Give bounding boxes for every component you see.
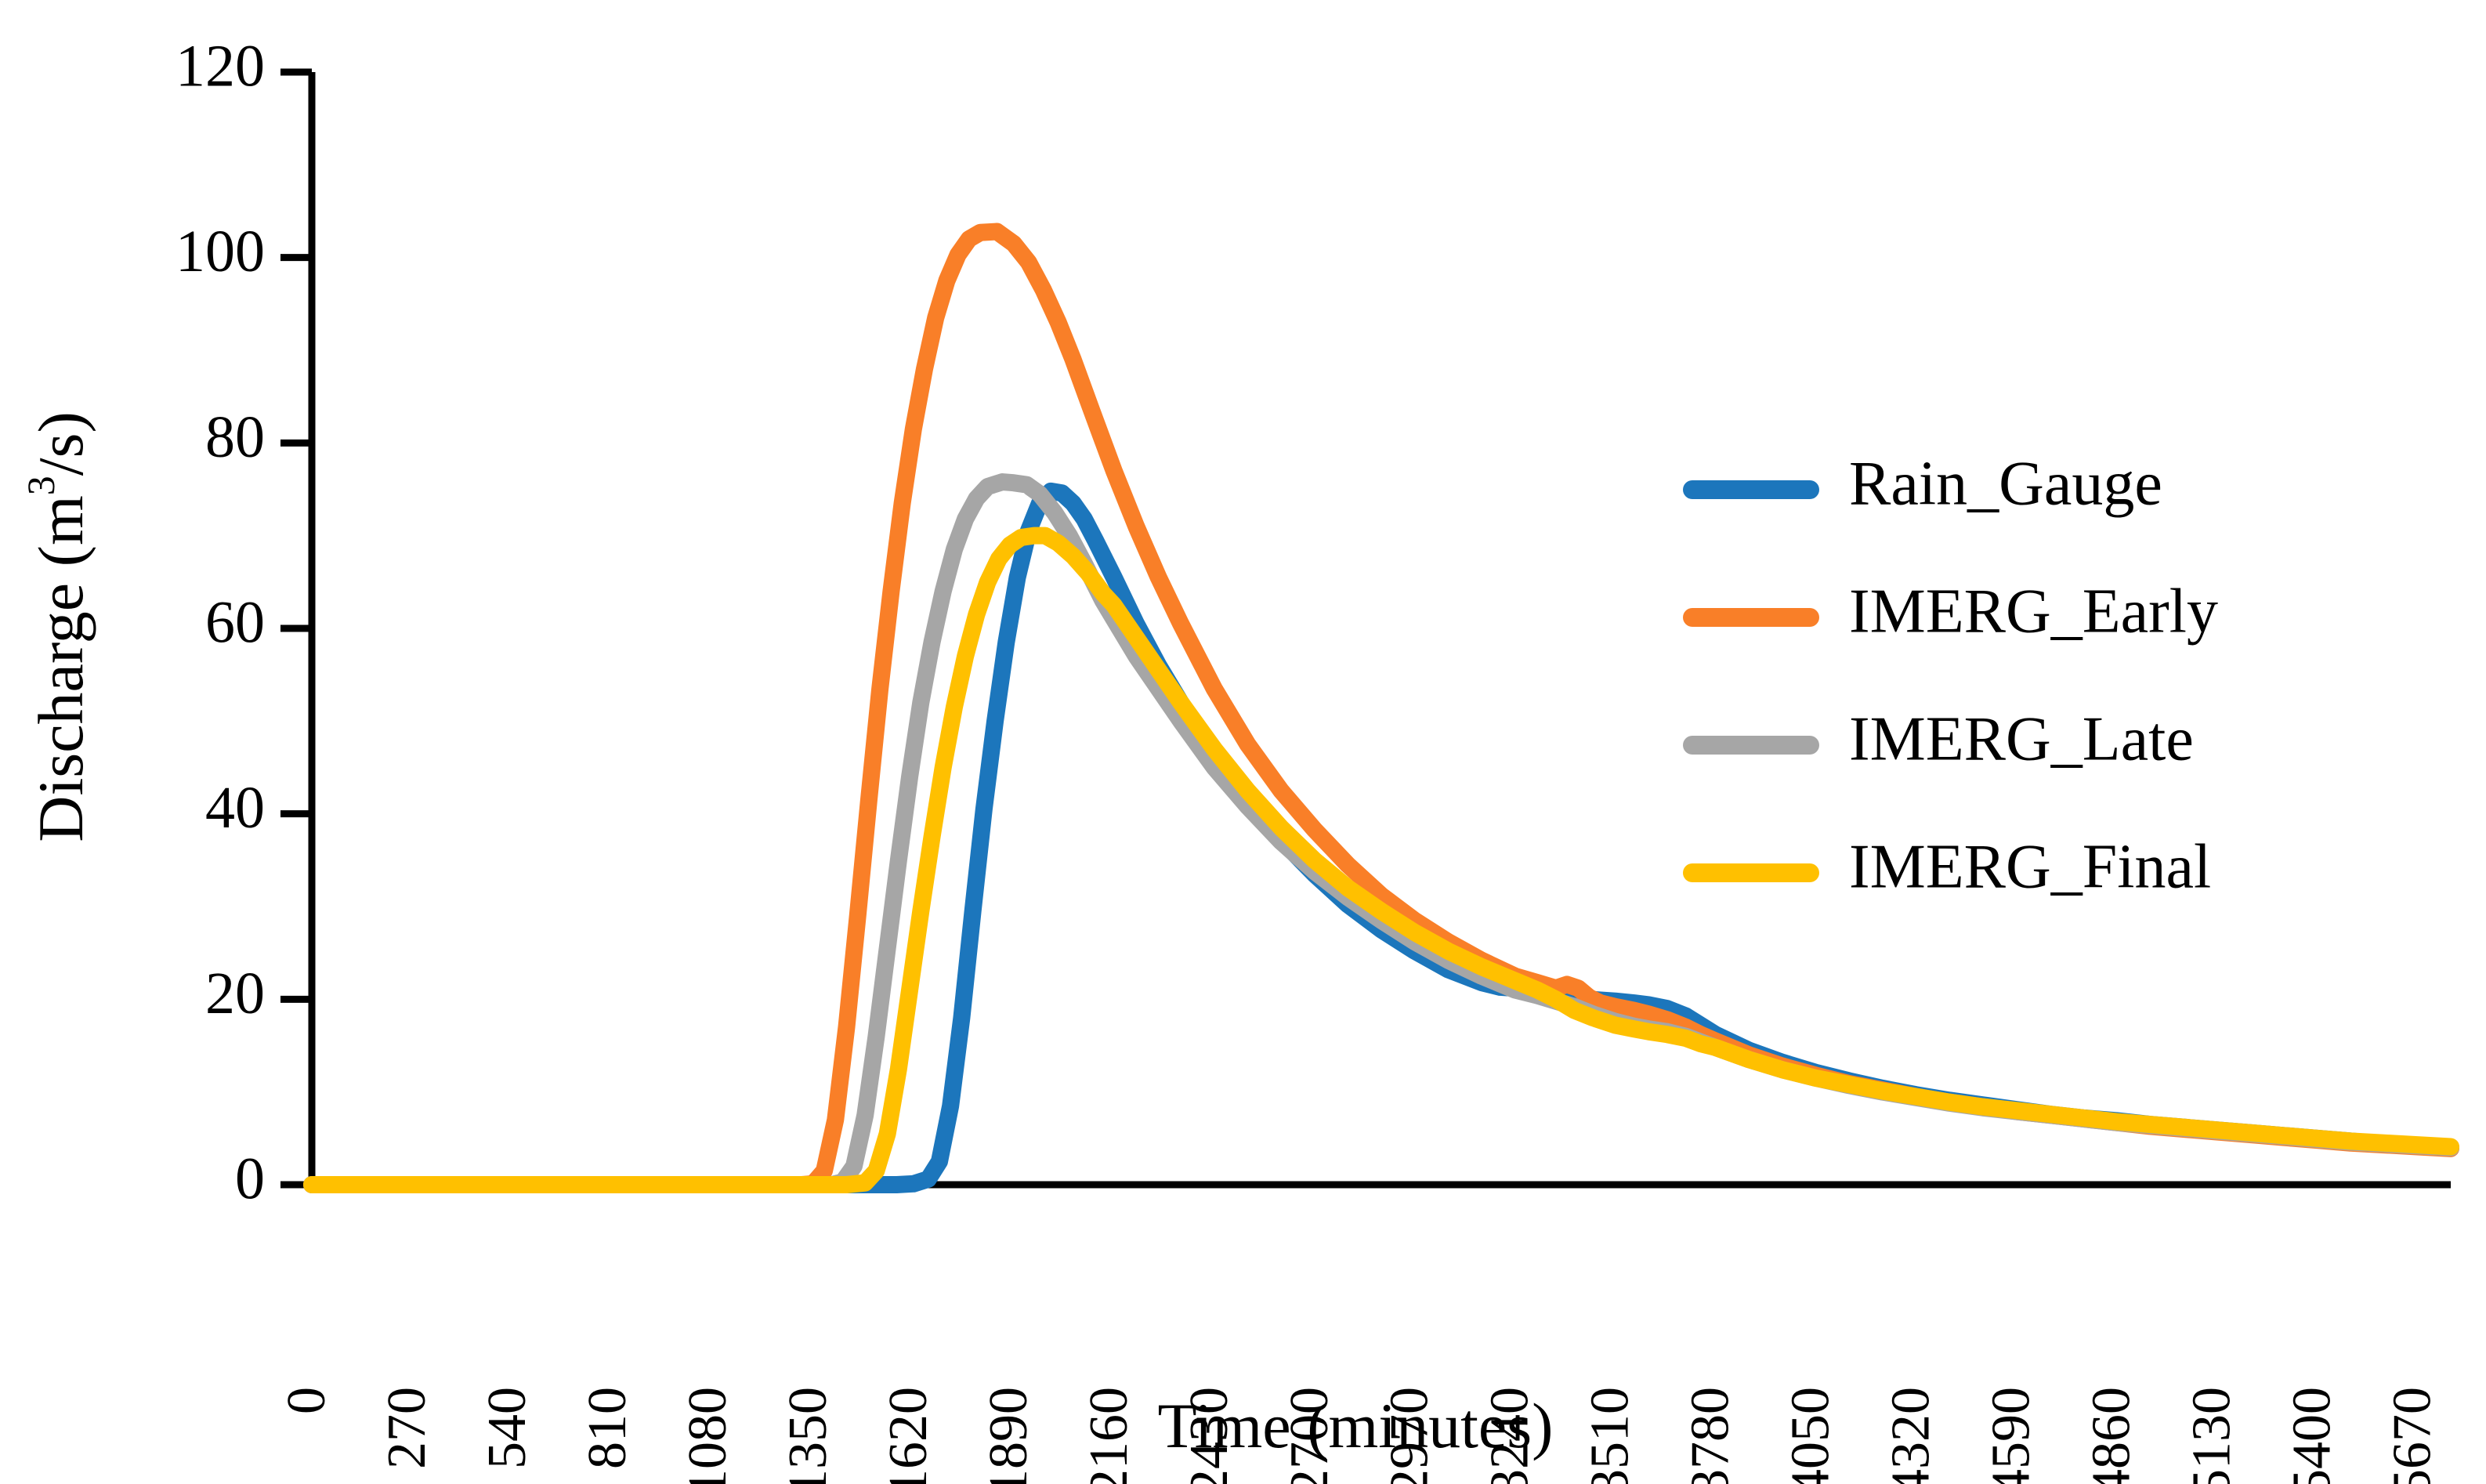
x-tick-label: 1890	[979, 1387, 1039, 1484]
y-axis-title-superscript: 3	[19, 476, 63, 495]
y-tick-label: 0	[235, 1146, 265, 1211]
x-tick-label: 1080	[678, 1387, 738, 1484]
x-tick-label: 5130	[2181, 1387, 2242, 1484]
y-tick-label: 20	[205, 961, 265, 1026]
x-tick-label: 4860	[2082, 1387, 2142, 1484]
discharge-hydrograph-chart: 020406080100120 027054081010801350162018…	[0, 0, 2486, 1484]
x-tick-label: 4050	[1781, 1387, 1841, 1484]
y-tick-label: 40	[205, 775, 265, 841]
legend-label: Rain_Gauge	[1849, 449, 2162, 518]
y-tick-label: 60	[205, 589, 265, 655]
y-axis-title-tail: /s)	[25, 411, 96, 476]
x-tick-label: 4590	[1981, 1387, 2042, 1484]
y-axis-title: Discharge (m3/s)	[19, 411, 96, 842]
x-tick-label: 4320	[1881, 1387, 1941, 1484]
chart-container: 020406080100120 027054081010801350162018…	[0, 0, 2486, 1484]
x-axis-title: Time (minutes)	[1158, 1390, 1554, 1461]
x-tick-label: 3780	[1681, 1387, 1741, 1484]
legend-label: IMERG_Late	[1849, 704, 2194, 773]
x-tick-label: 2160	[1079, 1387, 1139, 1484]
legend-label: IMERG_Final	[1849, 832, 2211, 901]
y-axis-title-main: Discharge (m	[25, 495, 96, 842]
y-tick-label: 80	[205, 404, 265, 470]
y-tick-label: 100	[176, 219, 265, 284]
x-tick-label: 5670	[2382, 1387, 2442, 1484]
x-tick-label: 3510	[1580, 1387, 1641, 1484]
x-tick-label: 1620	[878, 1387, 939, 1484]
y-tick-label: 120	[176, 33, 265, 99]
x-tick-label: 5400	[2282, 1387, 2342, 1484]
x-tick-label: 810	[577, 1387, 638, 1469]
svg-text:Discharge (m3/s): Discharge (m3/s)	[19, 411, 96, 842]
x-tick-label: 270	[377, 1387, 437, 1469]
x-tick-label: 1350	[778, 1387, 838, 1484]
x-tick-label: 540	[477, 1387, 537, 1469]
legend-label: IMERG_Early	[1849, 577, 2218, 646]
x-tick-label: 0	[277, 1387, 337, 1414]
